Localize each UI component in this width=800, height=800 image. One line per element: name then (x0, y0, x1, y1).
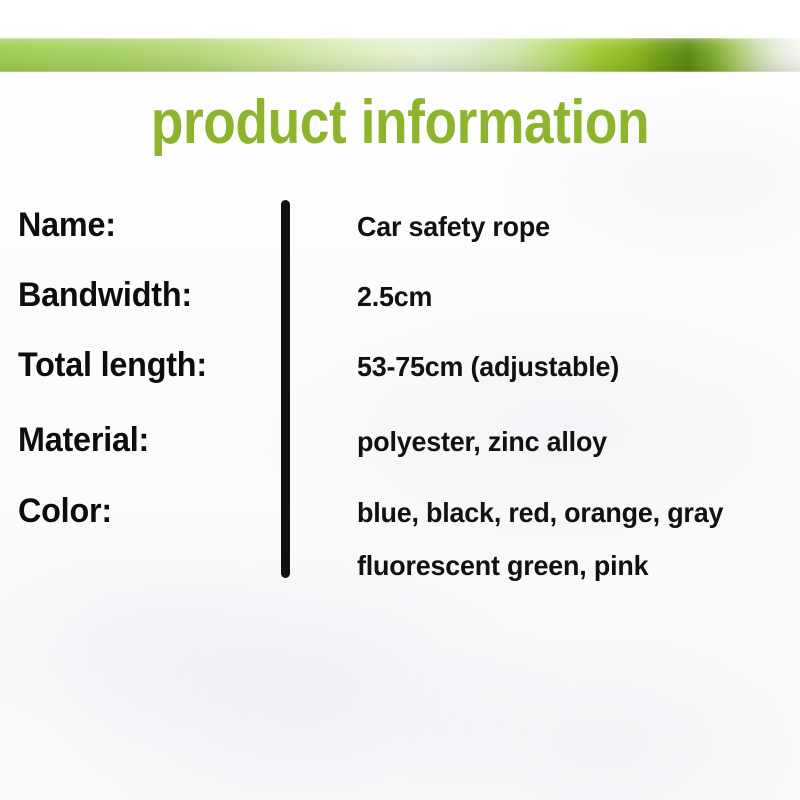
column-divider (281, 200, 290, 578)
spec-value-material: polyester, zinc alloy (357, 425, 607, 459)
spec-value-line: blue, black, red, orange, gray (357, 496, 723, 530)
spec-value-bandwidth: 2.5cm (357, 280, 432, 314)
spec-value-name: Car safety rope (357, 210, 550, 244)
spec-value-color: blue, black, red, orange, gray fluoresce… (357, 496, 723, 583)
banner-top-fade (0, 34, 800, 39)
top-gradient-banner (0, 38, 800, 72)
spec-value-line: 2.5cm (357, 280, 432, 314)
banner-sheen-overlay (0, 38, 800, 72)
spec-value-total-length: 53-75cm (adjustable) (357, 350, 619, 384)
banner-bottom-fade (0, 71, 800, 77)
spec-label-name: Name: (18, 206, 116, 244)
product-information-page: product information Name: Car safety rop… (0, 0, 800, 800)
page-title: product information (56, 86, 744, 160)
spec-label-bandwidth: Bandwidth: (18, 276, 192, 314)
spec-value-line: Car safety rope (357, 210, 550, 244)
spec-label-color: Color: (18, 492, 112, 530)
spec-label-material: Material: (18, 421, 149, 459)
spec-label-total-length: Total length: (18, 346, 207, 384)
spec-value-line: fluorescent green, pink (357, 549, 723, 583)
spec-value-line: polyester, zinc alloy (357, 425, 607, 459)
spec-value-line: 53-75cm (adjustable) (357, 350, 619, 384)
